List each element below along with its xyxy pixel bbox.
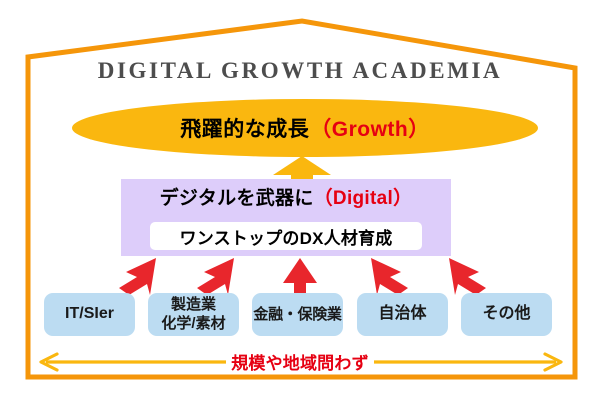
segment-label: 製造業 <box>171 296 216 314</box>
scope-caption-text: 規模や地域問わず <box>226 354 374 373</box>
segment-label: IT/SIer <box>65 305 114 323</box>
page-title: DIGITAL GROWTH ACADEMIA <box>0 58 600 84</box>
segment-arrow-3-icon <box>283 258 317 296</box>
segment-box-it-sier: IT/SIer <box>44 293 135 336</box>
onestop-label: ワンストップのDX人材育成 <box>180 224 393 249</box>
digital-label: デジタルを武器に（Digital） <box>121 183 451 210</box>
segment-box-local-government: 自治体 <box>357 293 448 336</box>
scope-caption: 規模や地域問わず <box>0 349 600 374</box>
growth-label-jp: 飛躍的な成長 <box>180 113 309 143</box>
onestop-box: ワンストップのDX人材育成 <box>150 222 422 250</box>
segment-box-others: その他 <box>461 293 552 336</box>
segment-arrow-5-icon <box>449 258 486 295</box>
segment-arrow-4-icon <box>371 258 408 295</box>
segment-label: 金融・保険業 <box>253 306 341 323</box>
digital-label-en: （Digital） <box>314 188 413 209</box>
segment-label-second: 化学/素材 <box>161 315 225 333</box>
segment-arrow-1-icon <box>119 258 156 295</box>
growth-label: 飛躍的な成長（Growth） <box>72 99 538 157</box>
segment-box-finance-insurance: 金融・保険業 <box>252 293 343 336</box>
diagram-canvas: DIGITAL GROWTH ACADEMIA 飛躍的な成長（Growth） デ… <box>0 0 600 400</box>
growth-label-en: （Growth） <box>310 113 430 143</box>
segment-box-manufacturing: 製造業 化学/素材 <box>148 293 239 336</box>
segment-arrow-2-icon <box>197 258 234 295</box>
segment-label: その他 <box>482 305 530 323</box>
digital-label-jp: デジタルを武器に <box>160 188 314 209</box>
segment-label: 自治体 <box>378 305 426 323</box>
